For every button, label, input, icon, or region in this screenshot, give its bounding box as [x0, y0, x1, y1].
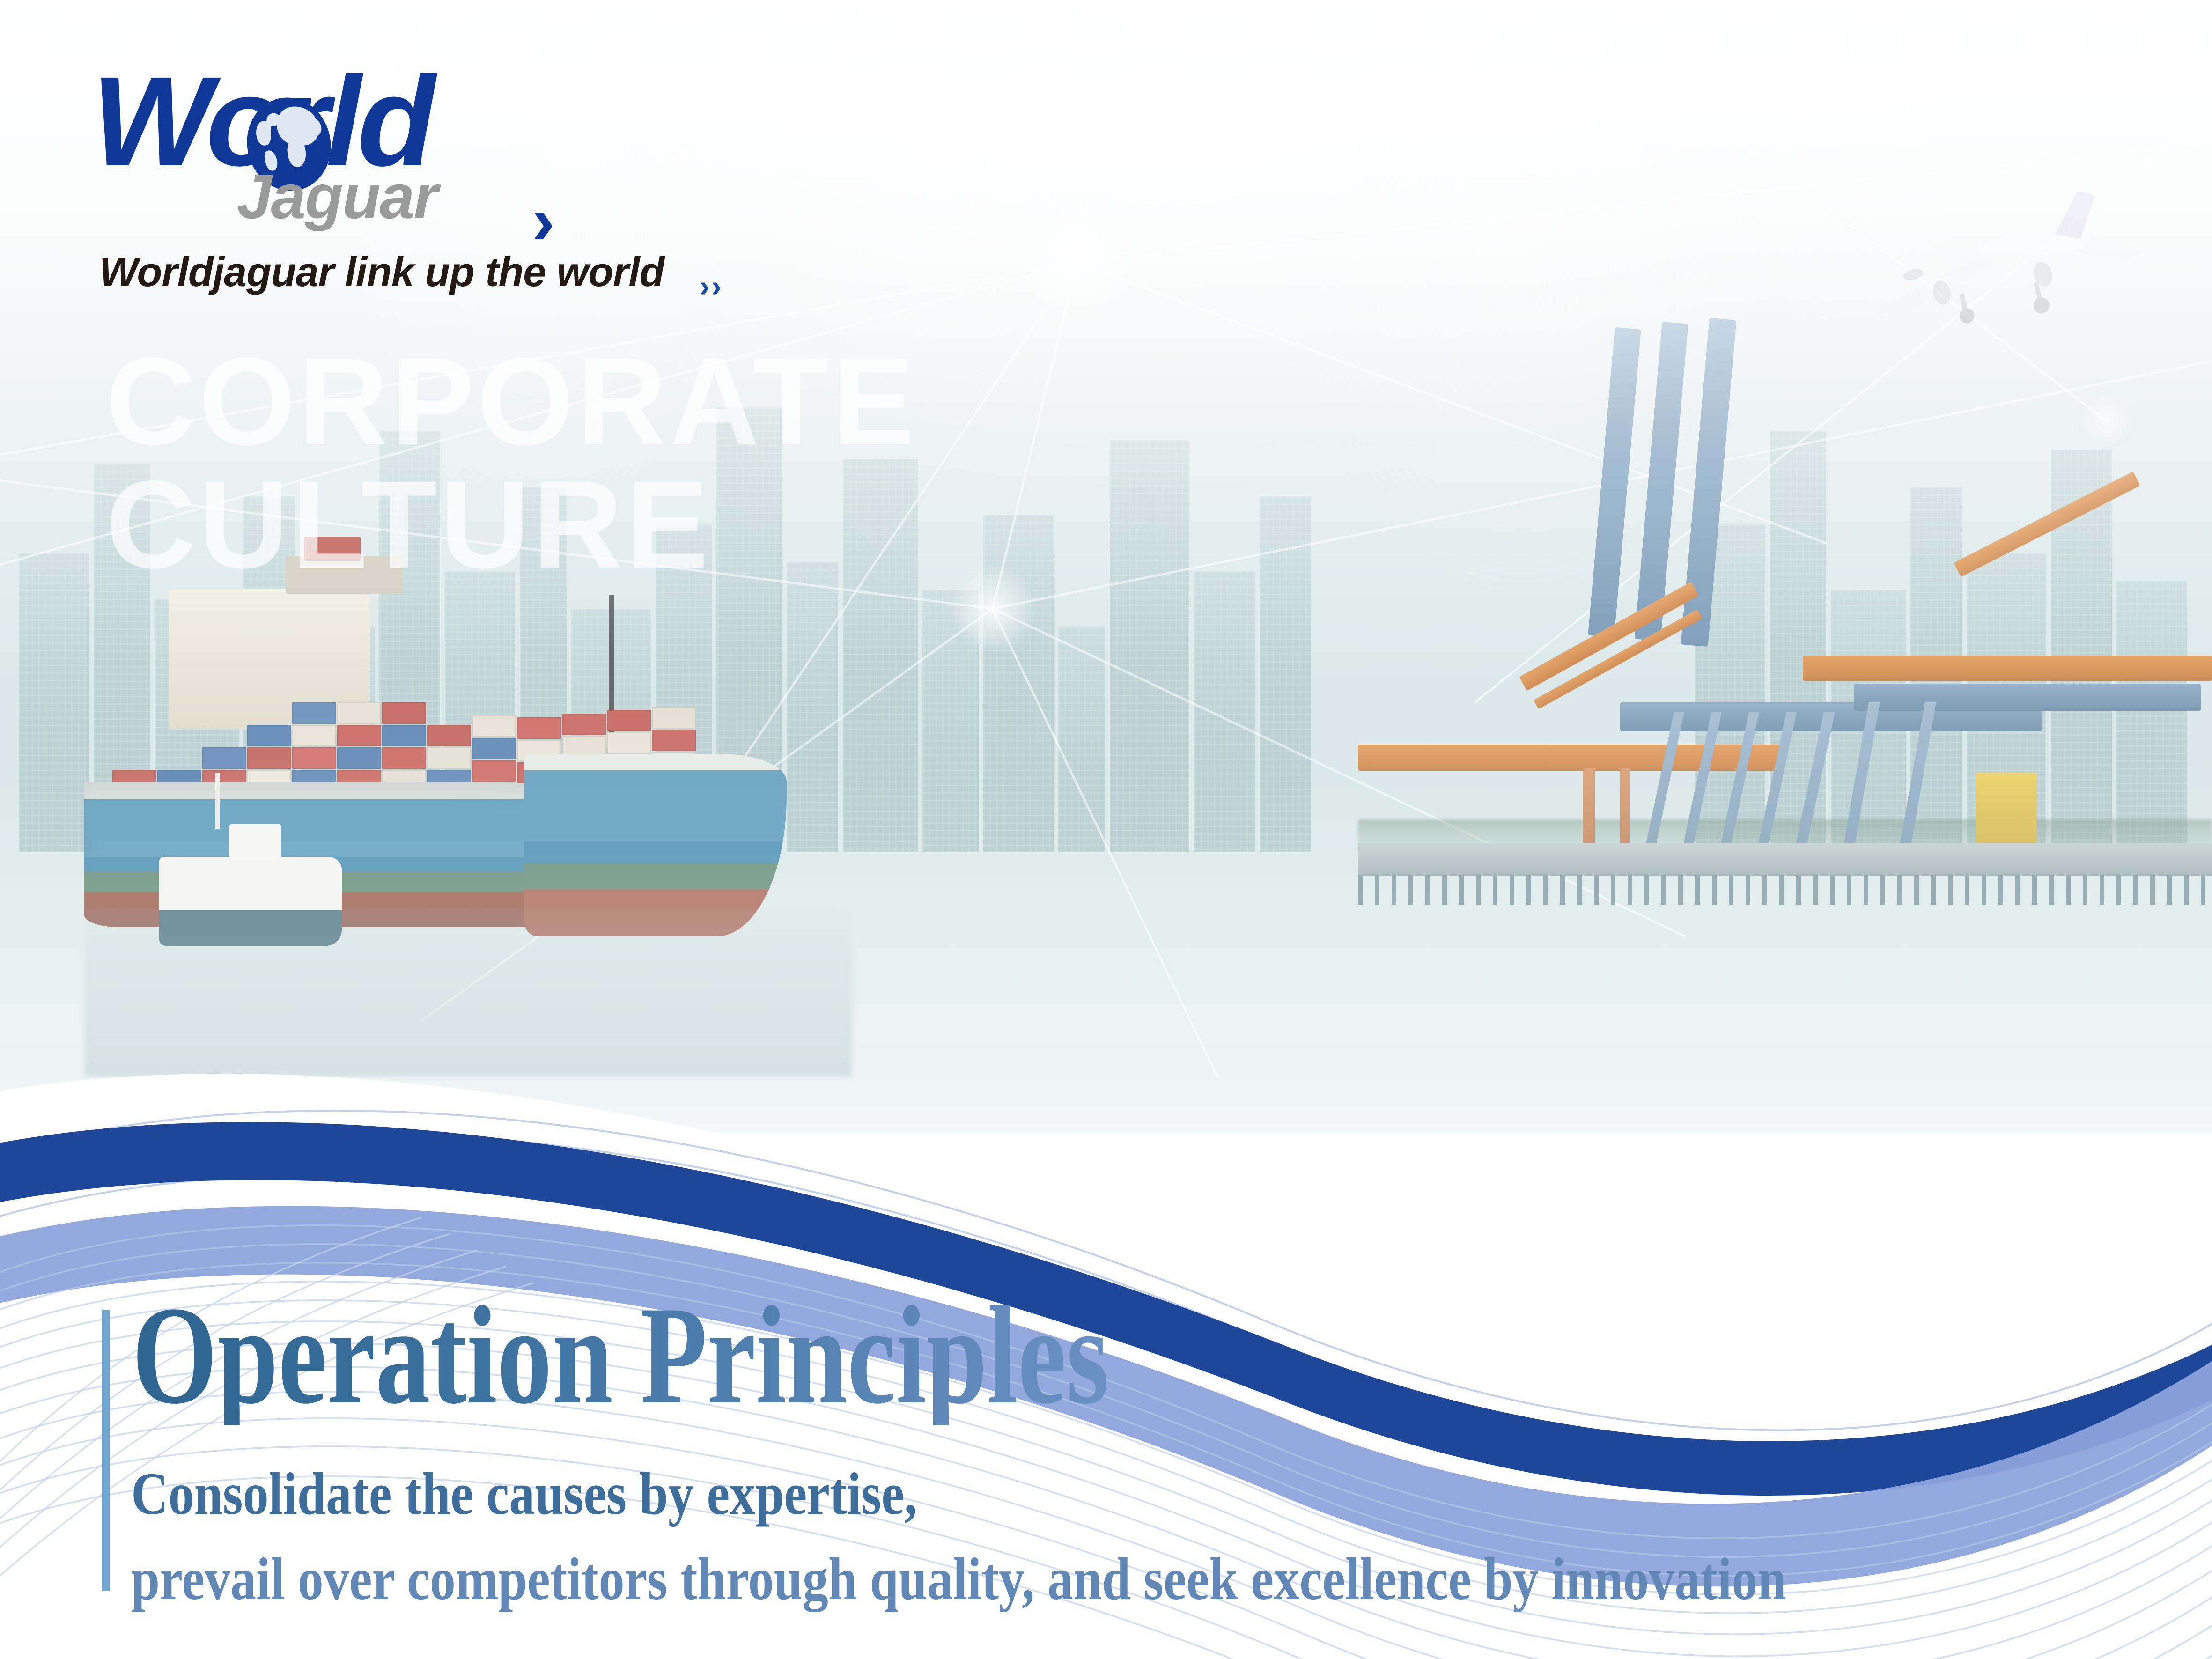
slide-canvas: World Jaguar › Worldjaguar link up the w… [0, 0, 2212, 1659]
hero-image-area: World Jaguar › Worldjaguar link up the w… [0, 0, 2212, 1133]
cargo-airplane-icon [1840, 192, 2163, 332]
brand-tagline: Worldjaguar link up the world [99, 248, 664, 296]
section-subtitle: Consolidate the causes by expertise,prev… [131, 1452, 1786, 1622]
double-chevron-right-icon: ›› [700, 269, 723, 303]
yellow-mobile-crane [1976, 773, 2037, 852]
logo-jaguar-text: Jaguar [237, 161, 437, 233]
footer-text-block: Operation Principles Consolidate the cau… [0, 1297, 2212, 1597]
page-title-watermark: CORPORATE CULTURE [106, 340, 918, 587]
section-title: Operation Principles [132, 1285, 1109, 1425]
subtitle-line-1: Consolidate the causes by expertise, [131, 1460, 917, 1527]
brand-logo[interactable]: World Jaguar › Worldjaguar link up the w… [92, 61, 794, 304]
port-gantry-cranes [1358, 300, 2212, 936]
accent-vertical-rule [102, 1310, 110, 1591]
quay-wall [1358, 843, 2212, 876]
quay-piles [1358, 875, 2212, 905]
chevron-right-icon: › [532, 186, 555, 255]
subtitle-line-2: prevail over competitors through quality… [131, 1546, 1786, 1612]
container-ship [84, 581, 852, 965]
